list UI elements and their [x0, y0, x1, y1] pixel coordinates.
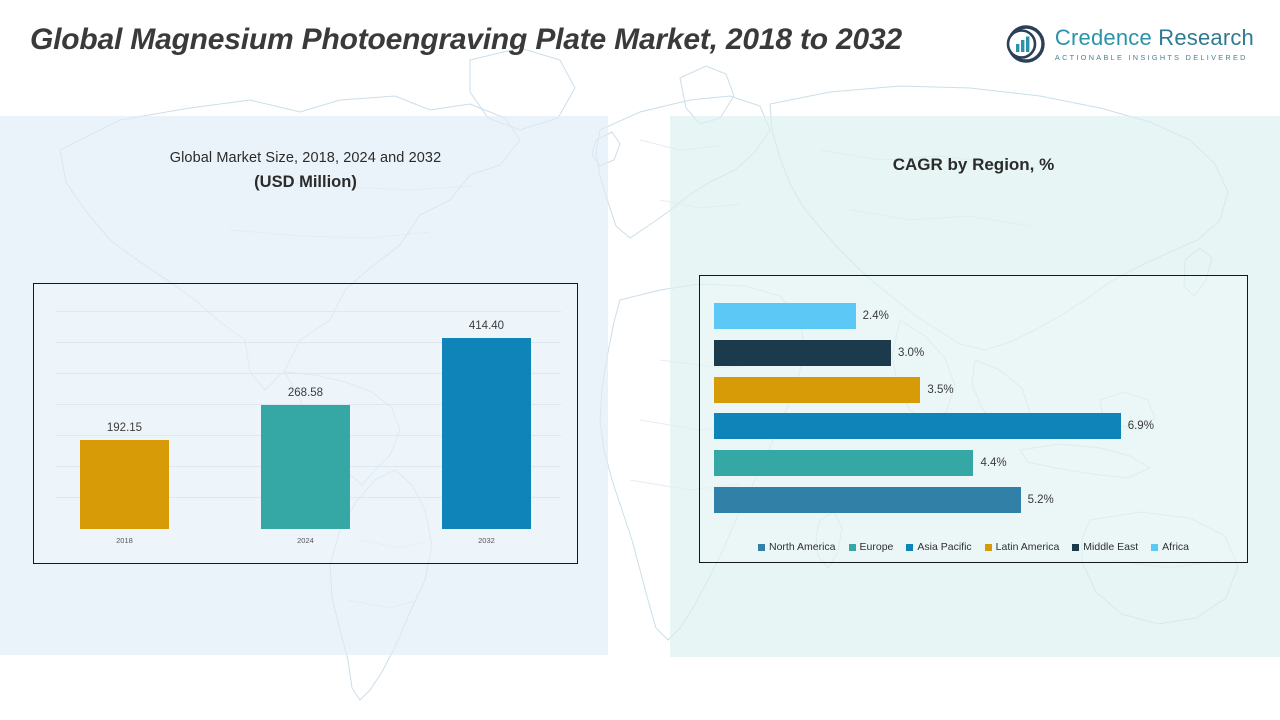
bar-fill[interactable] [714, 450, 973, 476]
column-item[interactable]: 268.582024 [261, 405, 350, 529]
global-market-size-chart: 192.152018268.582024414.402032 [33, 283, 578, 564]
legend-label: North America [769, 541, 836, 553]
column-bar[interactable] [261, 405, 350, 529]
legend-item[interactable]: Middle East [1072, 541, 1138, 553]
legend-label: Latin America [996, 541, 1060, 553]
legend-item[interactable]: Africa [1151, 541, 1189, 553]
legend-swatch [985, 544, 992, 551]
column-value-label: 268.58 [288, 387, 323, 399]
bar-value-label: 4.4% [980, 457, 1006, 469]
bar-row[interactable]: 3.5% [714, 377, 1239, 403]
bar-fill[interactable] [714, 377, 920, 403]
infographic-root: Global Magnesium Photoengraving Plate Ma… [0, 0, 1280, 720]
legend-swatch [849, 544, 856, 551]
column-category-label: 2032 [478, 536, 495, 545]
column-item[interactable]: 414.402032 [442, 338, 531, 529]
legend-item[interactable]: Europe [849, 541, 894, 553]
bar-row[interactable]: 3.0% [714, 340, 1239, 366]
column-category-label: 2018 [116, 536, 133, 545]
bar-row[interactable]: 4.4% [714, 450, 1239, 476]
column-bar[interactable] [80, 440, 169, 529]
legend-item[interactable]: Latin America [985, 541, 1060, 553]
left-chart-title-line2: (USD Million) [33, 173, 578, 192]
legend-label: Africa [1162, 541, 1189, 553]
bar-row[interactable]: 5.2% [714, 487, 1239, 513]
left-chart-title: Global Market Size, 2018, 2024 and 2032 … [33, 150, 578, 192]
legend-swatch [1072, 544, 1079, 551]
page-title: Global Magnesium Photoengraving Plate Ma… [30, 20, 1030, 60]
column-bar[interactable] [442, 338, 531, 529]
column-plot-area: 192.152018268.582024414.402032 [34, 284, 577, 563]
cagr-by-region-chart: 2.4%3.0%3.5%6.9%4.4%5.2% North AmericaEu… [699, 275, 1248, 563]
brand-logo: Credence Research Actionable Insights De… [1006, 24, 1254, 64]
right-chart-title-text: CAGR by Region, % [699, 155, 1248, 175]
left-chart-title-line1: Global Market Size, 2018, 2024 and 2032 [33, 150, 578, 166]
legend-swatch [906, 544, 913, 551]
bar-value-label: 6.9% [1128, 420, 1154, 432]
legend-swatch [1151, 544, 1158, 551]
column-value-label: 414.40 [469, 320, 504, 332]
bar-value-label: 3.5% [927, 384, 953, 396]
bar-fill[interactable] [714, 413, 1121, 439]
brand-name-primary: Credence [1055, 25, 1152, 50]
legend-swatch [758, 544, 765, 551]
chart-legend: North AmericaEuropeAsia PacificLatin Ame… [700, 541, 1247, 553]
brand-name: Credence Research [1055, 27, 1254, 49]
bar-fill[interactable] [714, 303, 855, 329]
column-value-label: 192.15 [107, 422, 142, 434]
right-chart-title: CAGR by Region, % [699, 155, 1248, 175]
brand-name-secondary: Research [1158, 25, 1254, 50]
bar-value-label: 2.4% [863, 310, 889, 322]
bar-value-label: 5.2% [1028, 494, 1054, 506]
bar-fill[interactable] [714, 340, 891, 366]
bar-value-label: 3.0% [898, 347, 924, 359]
legend-label: Asia Pacific [917, 541, 971, 553]
legend-item[interactable]: North America [758, 541, 836, 553]
legend-label: Middle East [1083, 541, 1138, 553]
column-category-label: 2024 [297, 536, 314, 545]
bar-plot-area: 2.4%3.0%3.5%6.9%4.4%5.2% [700, 276, 1247, 562]
brand-tagline: Actionable Insights Delivered [1055, 54, 1254, 61]
bar-row[interactable]: 6.9% [714, 413, 1239, 439]
legend-item[interactable]: Asia Pacific [906, 541, 971, 553]
header: Global Magnesium Photoengraving Plate Ma… [0, 0, 1280, 116]
bar-row[interactable]: 2.4% [714, 303, 1239, 329]
circle-bar-chart-icon [1006, 24, 1046, 64]
column-item[interactable]: 192.152018 [80, 440, 169, 529]
legend-label: Europe [860, 541, 894, 553]
bar-fill[interactable] [714, 487, 1020, 513]
